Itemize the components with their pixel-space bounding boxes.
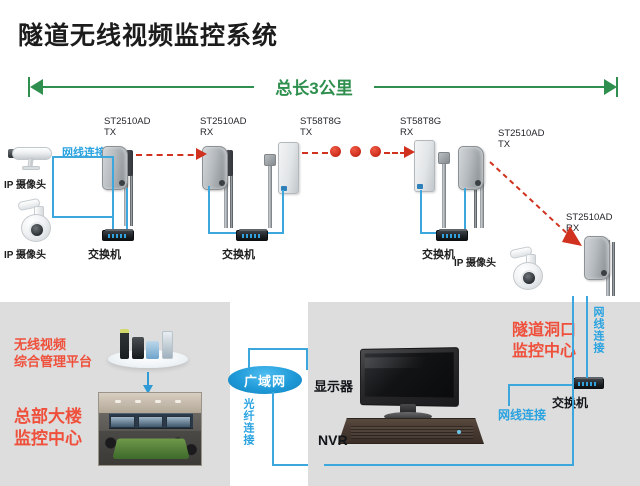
nvr-device (338, 418, 484, 448)
ip-camera-bullet-icon (4, 144, 56, 170)
repeat-dot (350, 146, 361, 157)
device-label-st2510ad-rx-1: ST2510AD RX (200, 116, 246, 138)
diagram-canvas: 隧道无线视频监控系统 总长3公里 ST2510AD TX IP 摄像头 IP 摄… (0, 0, 640, 486)
ip-camera-dome-icon-2 (506, 248, 552, 292)
tunnel-cable-down (572, 296, 574, 466)
network-switch-4 (572, 378, 604, 389)
tunnel-cable-vertical (586, 296, 588, 378)
device-label-st2510ad-tx-1: ST2510AD TX (104, 116, 150, 138)
tunnel-center-label: 隧道洞口 监控中心 (512, 320, 576, 362)
antenna-mount-1 (264, 154, 276, 166)
repeat-dot (330, 146, 341, 157)
cable-seg (126, 188, 128, 234)
radio-st2510ad-tx-2 (458, 146, 484, 190)
wan-cloud-node: 广域网 (228, 366, 302, 394)
wan-cable-top (248, 348, 308, 350)
monitor-label: 显示器 (314, 376, 353, 395)
mast-pole-3 (268, 156, 272, 228)
dimension-cap-right (616, 77, 618, 97)
ip-camera-label-2: IP 摄像头 (4, 246, 46, 261)
device-label-st58t8g-rx: ST58T8G RX (400, 116, 441, 138)
radio-st2510ad-tx-1 (102, 146, 128, 190)
cable-seg (52, 216, 114, 218)
switch-label-2: 交换机 (222, 246, 255, 262)
platform-label: 无线视频 综合管理平台 (14, 336, 92, 370)
device-label-st2510ad-tx-2: ST2510AD TX (498, 128, 544, 150)
overall-length-dimension: 总长3公里 (0, 70, 640, 104)
mast-pole-6b (612, 242, 615, 296)
nvr-cable-vertical (508, 384, 510, 406)
cable-seg (420, 190, 422, 232)
cable-seg (282, 190, 284, 232)
cable-seg (52, 156, 54, 216)
headquarters-center-label: 总部大楼 监控中心 (14, 406, 82, 450)
ip-camera-label-3: IP 摄像头 (454, 254, 496, 269)
mast-pole-4 (442, 154, 446, 228)
fiber-cable-vertical (272, 392, 274, 466)
fiber-connection-label: 光纤连接 (242, 398, 254, 446)
antenna-st58t8g-tx (278, 142, 299, 194)
repeat-dot (370, 146, 381, 157)
network-switch-1 (102, 230, 134, 241)
radio-st2510ad-rx-2 (584, 236, 610, 280)
network-switch-3 (436, 230, 468, 241)
cable-seg (52, 156, 114, 158)
wireless-link-1 (136, 154, 204, 156)
dimension-line-right (374, 86, 608, 88)
tunnel-cable-bottom (324, 464, 574, 466)
wireless-link-2b (384, 152, 406, 154)
device-label-st2510ad-rx-2: ST2510AD RX (566, 212, 612, 234)
tunnel-cable-label-horizontal: 网线连接 (498, 406, 546, 423)
antenna-st58t8g-rx (414, 140, 435, 192)
dimension-line-left (36, 86, 254, 88)
switch-label-1: 交换机 (88, 246, 121, 262)
nvr-label: NVR (318, 432, 348, 448)
control-room-photo (98, 392, 202, 466)
tunnel-cable-label-vertical: 网线连接 (592, 306, 604, 354)
network-switch-2 (236, 230, 268, 241)
device-label-st58t8g-tx: ST58T8G TX (300, 116, 341, 138)
antenna-mount-2 (438, 152, 450, 164)
ip-camera-label-1: IP 摄像头 (4, 176, 46, 191)
page-title: 隧道无线视频监控系统 (18, 16, 278, 52)
dimension-label: 总长3公里 (258, 74, 370, 99)
display-monitor (358, 348, 458, 422)
cable-seg (112, 156, 114, 234)
platform-to-center-arrow-icon (147, 372, 149, 386)
wireless-link-2a (302, 152, 328, 154)
management-platform-icon (108, 322, 188, 368)
wan-label: 广域网 (244, 371, 286, 390)
wireless-arrow-1-icon (196, 148, 207, 160)
nvr-cable-horizontal (508, 384, 574, 386)
wireless-arrow-2-icon (404, 146, 415, 158)
cable-seg (464, 188, 466, 232)
switch-label-3: 交换机 (422, 246, 455, 262)
cable-seg (208, 186, 210, 232)
switch-label-4: 交换机 (552, 394, 588, 411)
tunnel-link-chain: ST2510AD TX IP 摄像头 IP 摄像头 网线连接 交换机 ST251… (0, 104, 640, 296)
